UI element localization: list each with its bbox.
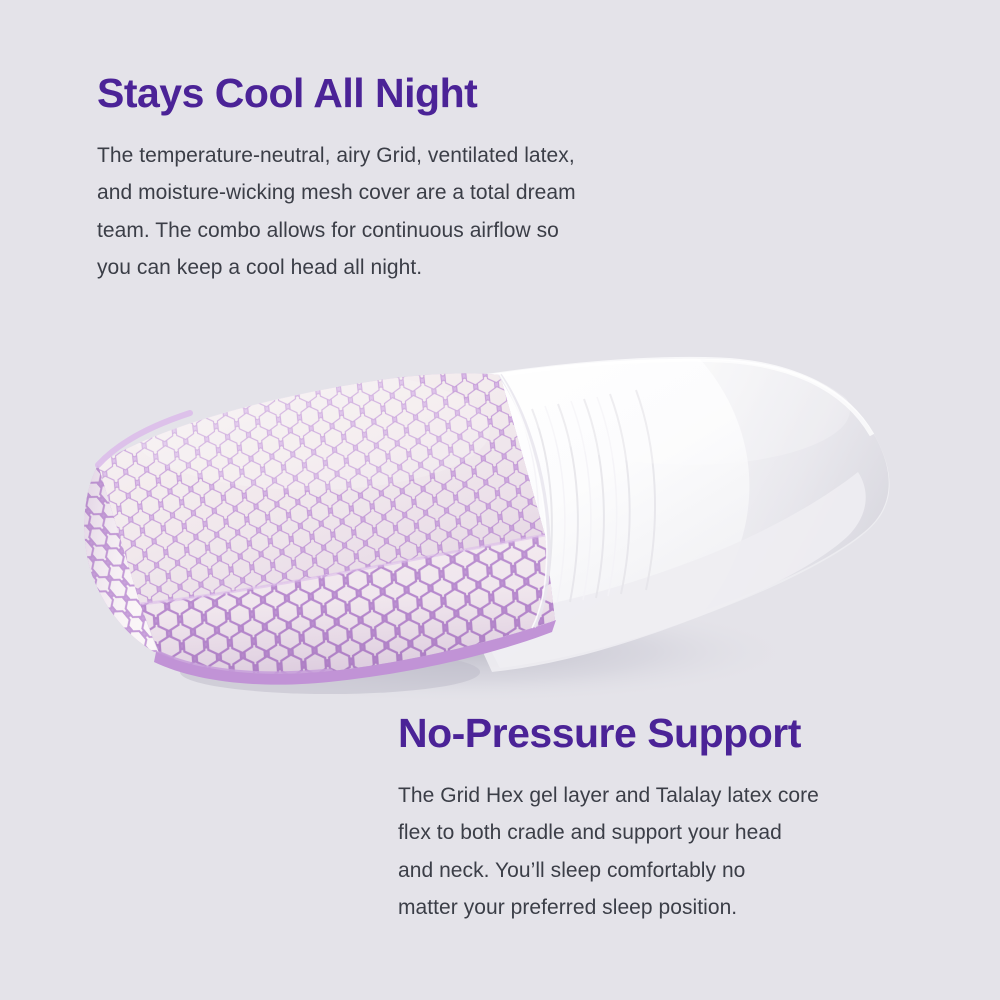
body-copy-stays-cool: The temperature-neutral, airy Grid, vent… (97, 137, 757, 287)
body-copy-no-pressure: The Grid Hex gel layer and Talalay latex… (398, 777, 938, 927)
product-image-pillow (0, 280, 1000, 700)
body-line: team. The combo allows for continuous ai… (97, 212, 757, 249)
page-title-no-pressure: No-Pressure Support (398, 712, 938, 755)
product-feature-panel: Stays Cool All Night The temperature-neu… (0, 0, 1000, 1000)
body-line: and neck. You’ll sleep comfortably no (398, 852, 938, 889)
feature-block-no-pressure: No-Pressure Support The Grid Hex gel lay… (398, 712, 938, 927)
body-line: The temperature-neutral, airy Grid, vent… (97, 137, 757, 174)
page-title-stays-cool: Stays Cool All Night (97, 72, 757, 115)
body-line: flex to both cradle and support your hea… (398, 814, 938, 851)
body-line: The Grid Hex gel layer and Talalay latex… (398, 777, 938, 814)
body-line: and moisture-wicking mesh cover are a to… (97, 174, 757, 211)
pillow-illustration (0, 280, 1000, 700)
feature-block-stays-cool: Stays Cool All Night The temperature-neu… (97, 72, 757, 287)
body-line: matter your preferred sleep position. (398, 889, 938, 926)
